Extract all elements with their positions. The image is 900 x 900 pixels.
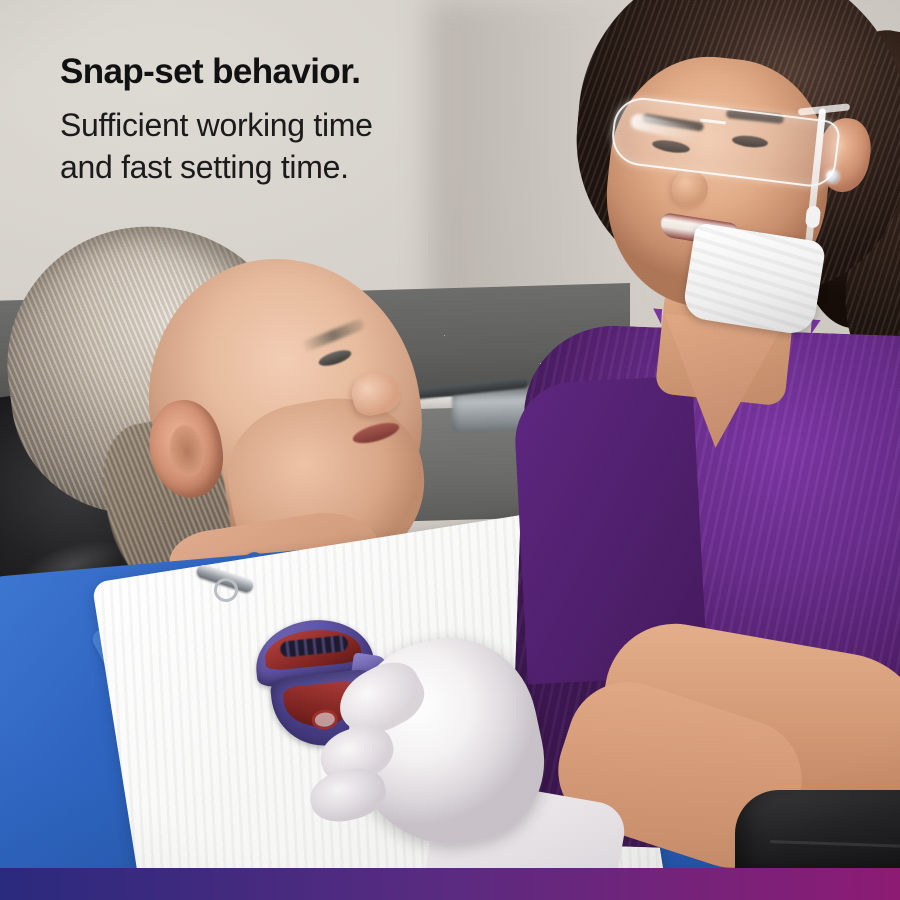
copy-block: Snap-set behavior. Sufficient working ti…: [60, 52, 580, 188]
brand-gradient-bar: [0, 868, 900, 900]
promo-graphic: Snap-set behavior. Sufficient working ti…: [0, 0, 900, 900]
subheadline: Sufficient working time and fast setting…: [60, 105, 580, 188]
face-mask: [681, 222, 826, 336]
headline: Snap-set behavior.: [60, 52, 580, 91]
